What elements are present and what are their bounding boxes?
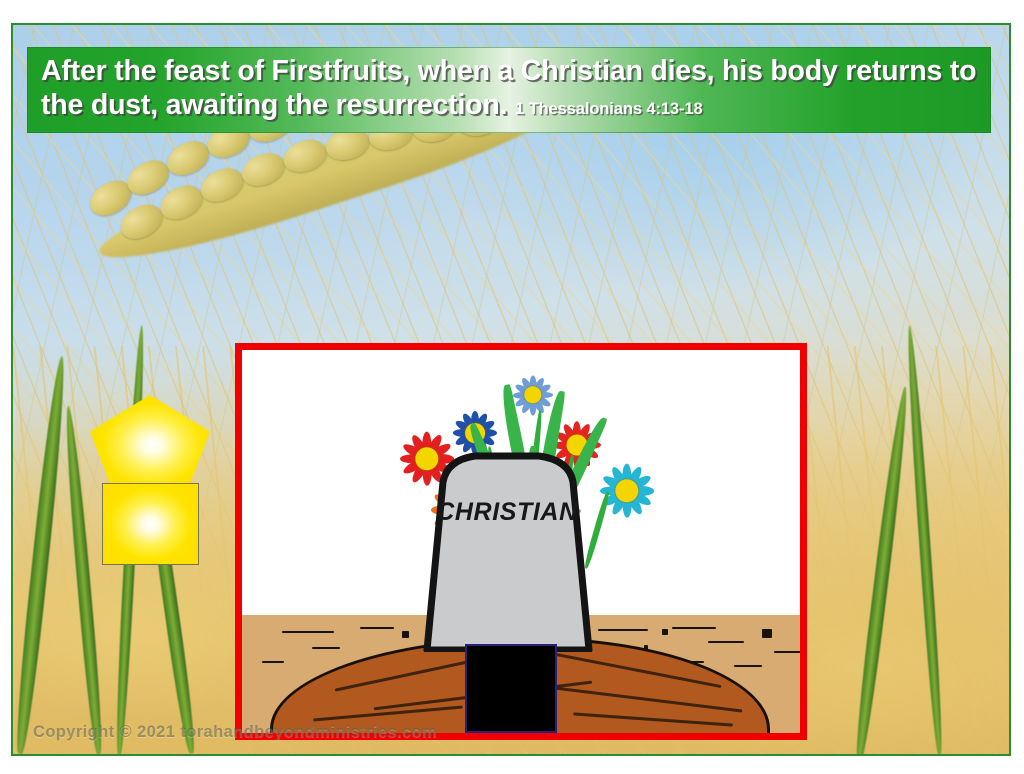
slide-frame: After the feast of Firstfruits, when a C… [11, 23, 1011, 756]
banner-sentence: After the feast of Firstfruits, when a C… [41, 55, 976, 121]
grave-opening [465, 644, 557, 733]
yellow-rectangle-shape [102, 483, 199, 565]
presentation-slide: After the feast of Firstfruits, when a C… [0, 0, 1024, 774]
grave-illustration: CHRISTIAN [242, 350, 800, 733]
tombstone [417, 452, 597, 652]
title-banner: After the feast of Firstfruits, when a C… [27, 47, 991, 133]
grave-illustration-frame: CHRISTIAN [235, 343, 807, 740]
copyright-notice: Copyright © 2021 torahandbeyondministrie… [33, 723, 437, 742]
scripture-reference: 1 Thessalonians 4:13-18 [515, 100, 703, 118]
banner-text: After the feast of Firstfruits, when a C… [41, 55, 979, 122]
tombstone-label: CHRISTIAN [417, 498, 597, 527]
